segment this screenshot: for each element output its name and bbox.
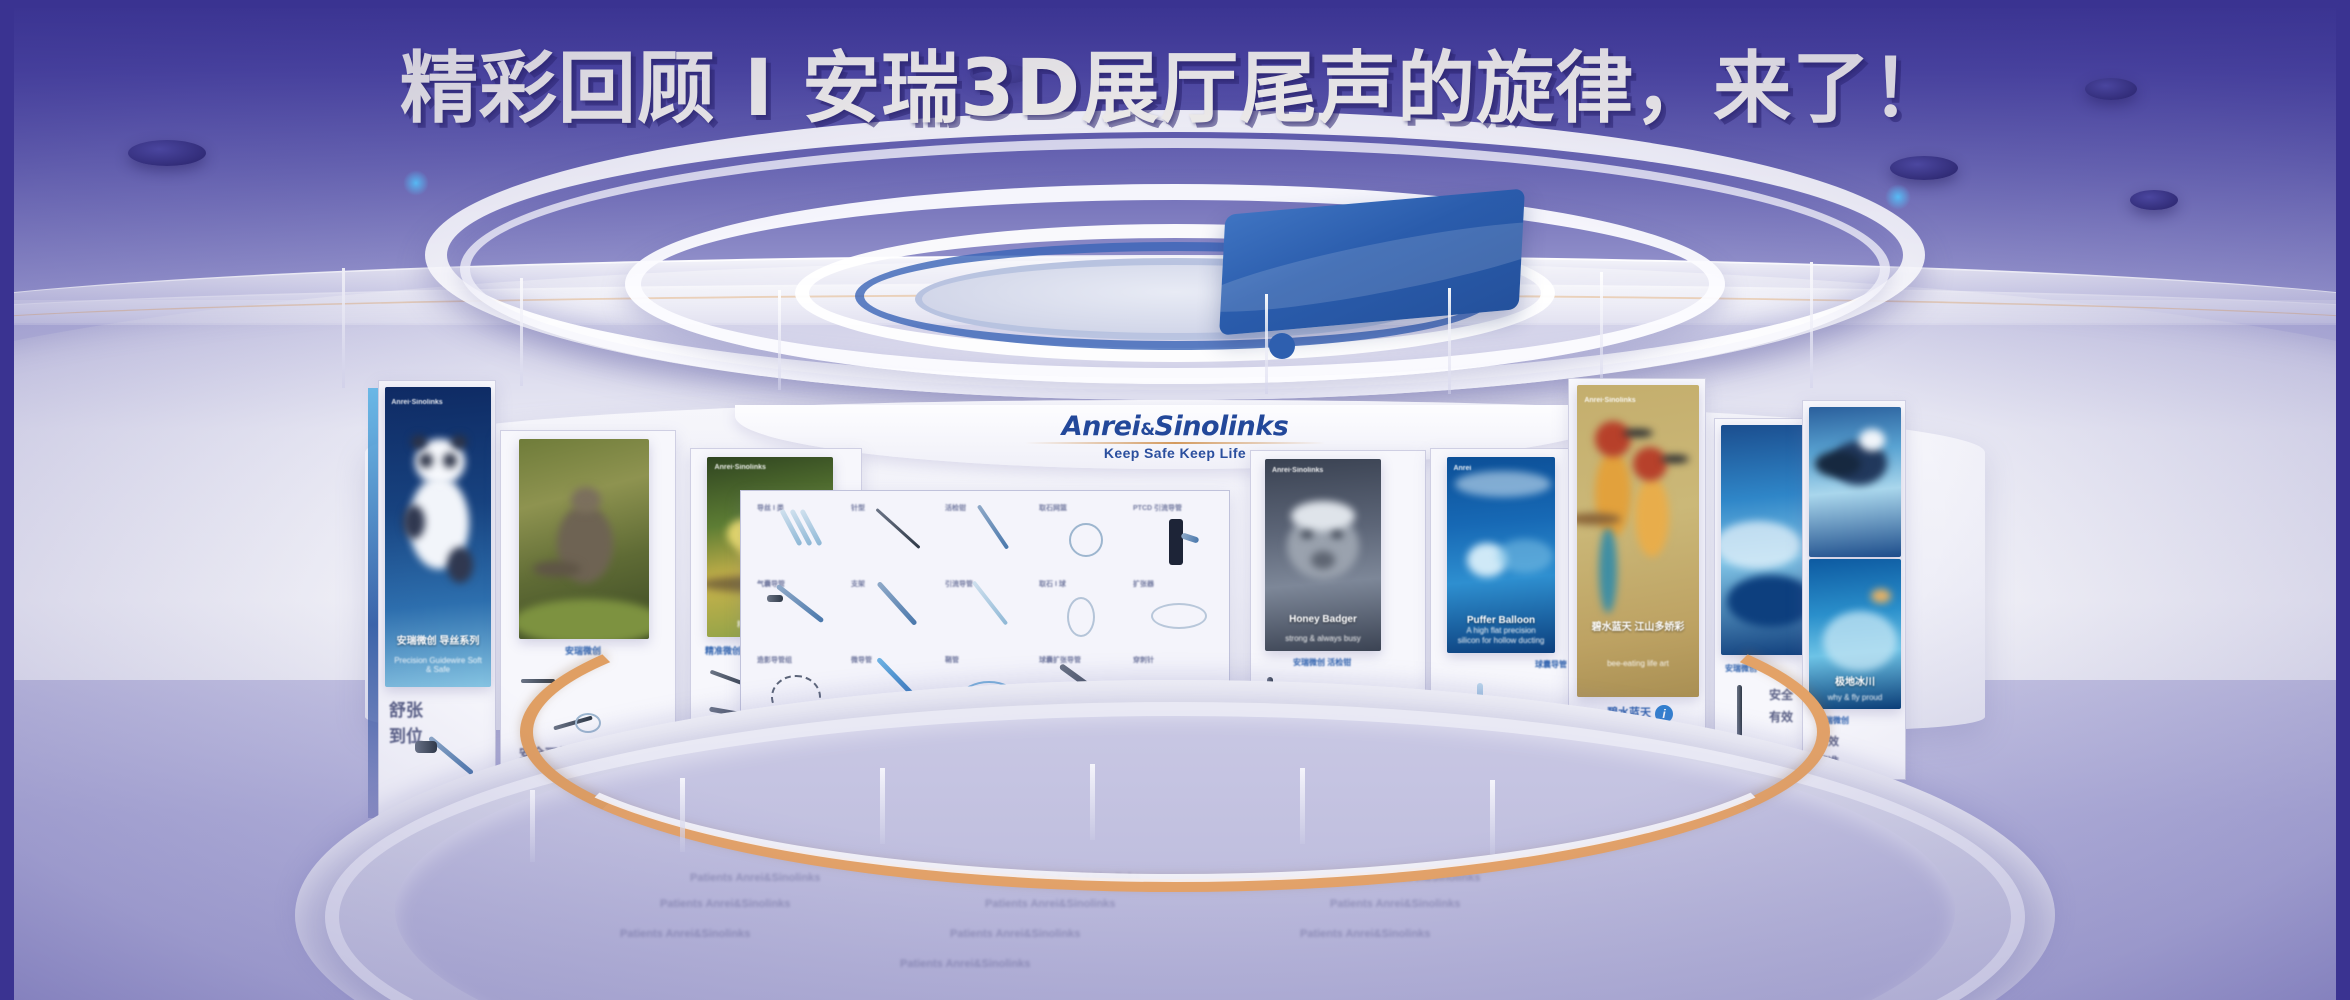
poster-birds-brand: Anrei·Sinolinks	[1584, 397, 1635, 404]
product-handle-panda	[415, 741, 437, 753]
rail-post-6	[1490, 780, 1495, 854]
rail-post-5	[1300, 768, 1305, 844]
panel-panda-edge	[368, 388, 378, 818]
ice-art-sun	[1871, 589, 1891, 603]
banner-image: Anrei&Sinolinks Keep Safe Keep Life Anre…	[0, 0, 2350, 1000]
eagle-art-wing	[1815, 451, 1861, 477]
eagle-art-head	[1859, 429, 1885, 451]
floor-watermark-1: Patients Anrei&Sinolinks	[690, 872, 820, 884]
hanger-rod-7	[1810, 262, 1813, 388]
hanger-rod-3	[778, 290, 781, 390]
floor-watermark-6: Patients Anrei&Sinolinks	[1330, 898, 1460, 910]
ring-glow-right	[1885, 184, 1911, 210]
brand-tagline: Keep Safe Keep Life	[1104, 445, 1246, 461]
panda-art-ear-l	[411, 435, 427, 449]
badger-art-eye-r	[1331, 531, 1343, 538]
hanger-rod-5	[1448, 288, 1451, 394]
device-art-0-3	[1069, 523, 1103, 557]
birds-art-bird2-head	[1633, 447, 1667, 481]
panda-art-eye-l	[419, 453, 433, 468]
frame-border-top	[0, 0, 2350, 8]
poster-frog-brand: Anrei·Sinolinks	[715, 464, 766, 471]
poster-panda-brand: Anrei·Sinolinks	[391, 399, 442, 406]
rail-post-3	[880, 768, 885, 844]
device-cell-0-1[interactable]: 针型	[851, 503, 939, 571]
floor-watermark-8: Patients Anrei&Sinolinks	[950, 928, 1080, 940]
poster-puffer-brand: Anrei	[1453, 465, 1471, 472]
panel-panda[interactable]: Anrei·Sinolinks 安瑞微创 导丝系列 Precision Guid…	[378, 380, 496, 830]
birds-art-bird2-body	[1635, 477, 1669, 557]
puffer-art-body	[1497, 539, 1553, 573]
ceiling-blue-dot	[1269, 333, 1295, 359]
frame-border-left	[0, 0, 14, 1000]
ring-glow-left	[403, 170, 429, 196]
kangaroo-art-tail	[533, 561, 581, 577]
panda-art-leg	[447, 547, 473, 583]
floor-watermark-7: Patients Anrei&Sinolinks	[620, 928, 750, 940]
device-art-0-2	[977, 504, 1009, 549]
brand-name-part1: Anrei	[1062, 411, 1141, 442]
ice-art-berg	[1823, 611, 1897, 671]
birds-art-bird1-head	[1595, 421, 1631, 457]
device-label-0-4: PTCD 引流导管	[1133, 503, 1182, 513]
floor-watermark-4: Patients Anrei&Sinolinks	[660, 898, 790, 910]
poster-kangaroo[interactable]	[519, 439, 649, 639]
poster-badger-brand: Anrei·Sinolinks	[1272, 467, 1323, 474]
poster-eagle[interactable]	[1809, 407, 1901, 557]
badger-art-eye-l	[1301, 531, 1313, 538]
brand-divider	[1025, 442, 1325, 444]
ceiling-light-4	[2130, 190, 2178, 210]
exhibition-room-3d-render: Anrei&Sinolinks Keep Safe Keep Life Anre…	[0, 0, 2350, 1000]
rail-post-1	[530, 790, 535, 862]
poster-panda-title: 安瑞微创 导丝系列	[393, 636, 482, 649]
device-art-0-1	[875, 508, 920, 549]
poster-panda-subtitle: Precision Guidewire Soft & Safe	[393, 656, 482, 675]
rail-post-2	[680, 778, 685, 852]
puffer-art-foam	[1455, 471, 1551, 497]
rail-post-4	[1090, 764, 1095, 840]
birds-art-bird1-beak	[1623, 429, 1653, 437]
brand-ampersand: &	[1140, 420, 1154, 440]
floor-watermark-9: Patients Anrei&Sinolinks	[1300, 928, 1430, 940]
brand-name-part2: Sinolinks	[1155, 411, 1289, 442]
kangaroo-art-head	[571, 487, 601, 513]
device-label-0-2: 活检钳	[945, 503, 966, 513]
badger-art-crown	[1291, 501, 1355, 531]
poster-panda[interactable]: Anrei·Sinolinks 安瑞微创 导丝系列 Precision Guid…	[385, 387, 491, 687]
hanger-rod-2	[520, 278, 523, 386]
wave-art-crest	[1721, 521, 1801, 569]
hanger-rod-4	[1265, 294, 1268, 394]
hanger-rod-6	[1600, 272, 1603, 388]
device-label-0-3: 取石网篮	[1039, 503, 1067, 513]
panda-art-eye-r	[443, 453, 457, 468]
ceiling-light-1	[128, 140, 206, 166]
poster-wave[interactable]	[1721, 425, 1805, 655]
device-label-0-1: 针型	[851, 503, 865, 513]
device-art-0-4-b	[1181, 532, 1200, 543]
brand-logo: Anrei&Sinolinks	[1062, 413, 1289, 440]
banner-title: 精彩回顾 I 安瑞3D展厅尾声的旋律，来了！	[0, 26, 2350, 138]
frame-border-right	[2336, 0, 2350, 1000]
stage-rail-white	[510, 552, 1840, 882]
caption-panda-line1: 舒张	[389, 699, 423, 724]
floor-watermark-10: Patients Anrei&Sinolinks	[900, 958, 1030, 970]
floor-watermark-5: Patients Anrei&Sinolinks	[985, 898, 1115, 910]
hanger-rod-1	[342, 268, 345, 388]
panda-art-ear-r	[451, 435, 467, 449]
panda-art-arm	[403, 505, 425, 539]
wave-art-deep	[1727, 575, 1805, 627]
birds-art-bird2-beak	[1661, 455, 1689, 463]
device-cell-0-0[interactable]: 导丝 I 类	[757, 503, 845, 571]
